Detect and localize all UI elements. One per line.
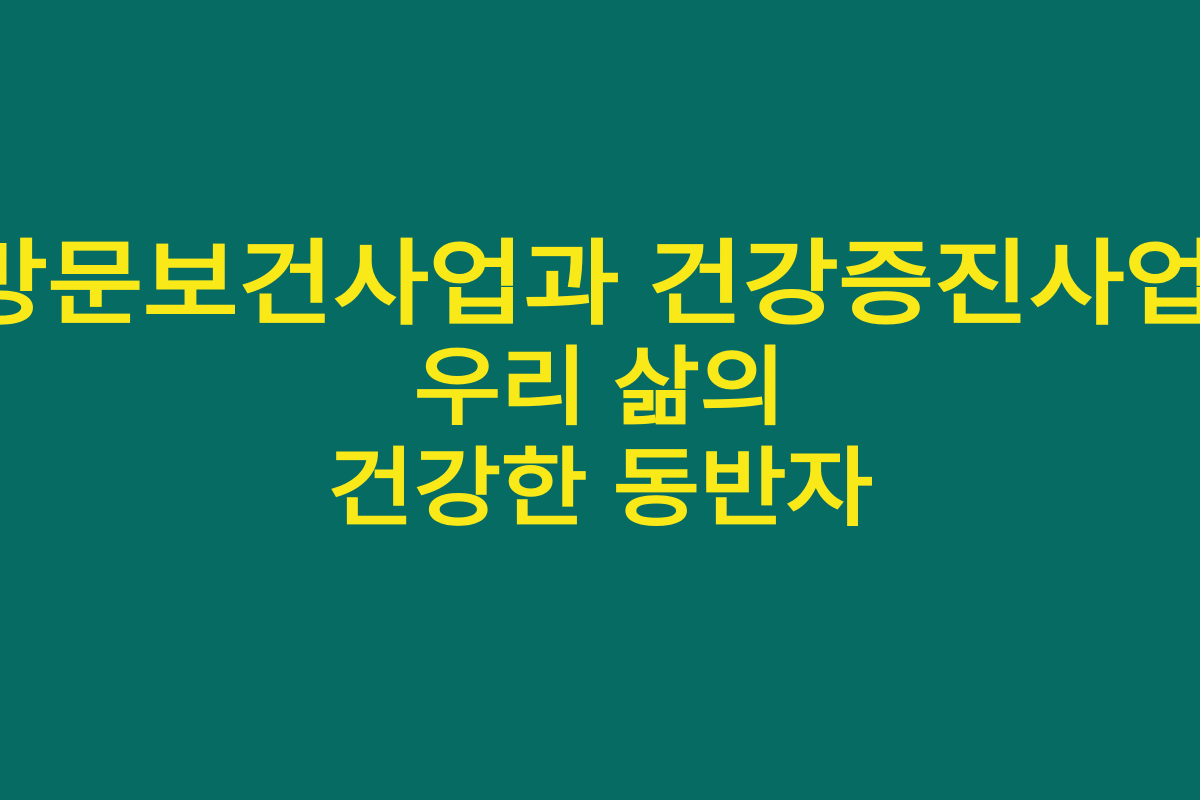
headline-line-3: 건강한 동반자 (0, 440, 1200, 540)
headline-block: 방문보건사업과 건강증진사업, 우리 삶의 건강한 동반자 (0, 232, 1200, 540)
headline-line-2: 우리 삶의 (0, 339, 1200, 439)
banner-canvas: 방문보건사업과 건강증진사업, 우리 삶의 건강한 동반자 (0, 0, 1200, 800)
headline-line-1: 방문보건사업과 건강증진사업, (0, 232, 1200, 337)
